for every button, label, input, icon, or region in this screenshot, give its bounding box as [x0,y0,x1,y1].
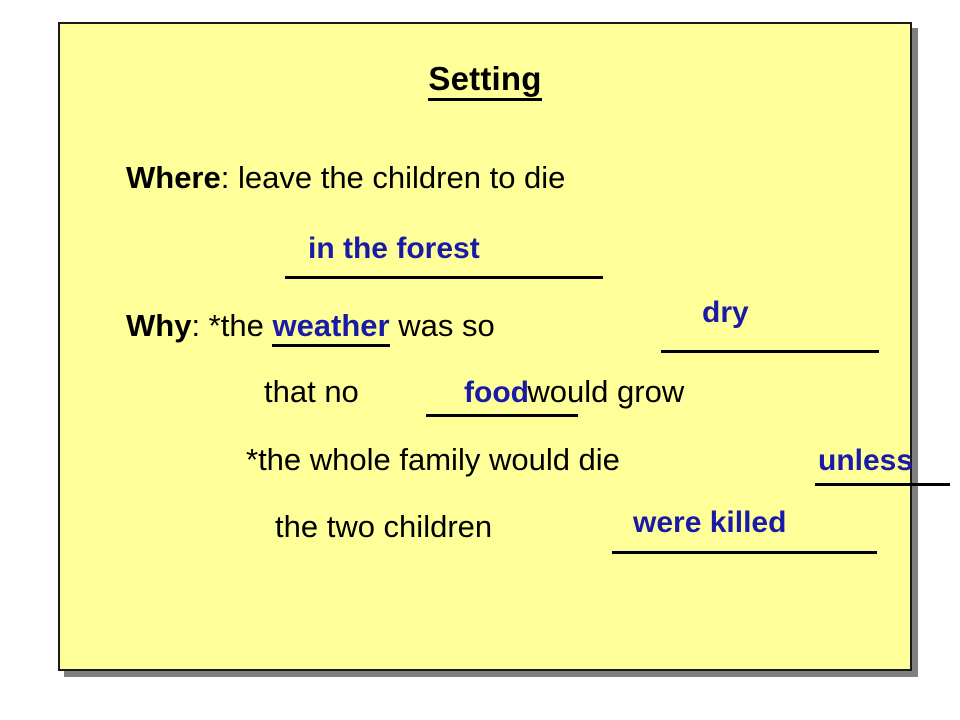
blank-rule-where [285,276,603,279]
line-family: *the whole family would die [246,444,620,477]
line-why: Why: *the weather was so [126,310,495,343]
where-colon: : [221,160,238,195]
page-title-text: Setting [428,60,541,101]
two-children-prefix: the two children [275,509,492,544]
blank-rule-unless [815,483,950,486]
blank-rule-food [426,414,578,417]
line-where: Where: leave the children to die [126,162,565,195]
page-title: Setting [60,60,910,98]
answer-dry: dry [702,296,749,330]
where-text: leave the children to die [238,160,565,195]
blank-rule-dry [661,350,879,353]
line-two-children: the two children [275,511,492,544]
that-no-prefix: that no [264,374,367,409]
slide-panel: Setting Where: leave the children to die… [58,22,912,671]
that-no-suffix: would grow [527,374,684,409]
blank-rule-were-killed [612,551,877,554]
answer-weather: weather [272,308,389,347]
answer-were-killed: were killed [633,506,786,540]
where-label: Where [126,160,221,195]
why-label: Why [126,308,191,343]
why-middle: was so [390,308,495,343]
answer-food: food [464,376,529,410]
answer-unless: unless [818,444,913,478]
why-colon: : [191,308,208,343]
family-text: *the whole family would die [246,442,620,477]
answer-where: in the forest [308,232,480,266]
why-prefix: *the [209,308,273,343]
